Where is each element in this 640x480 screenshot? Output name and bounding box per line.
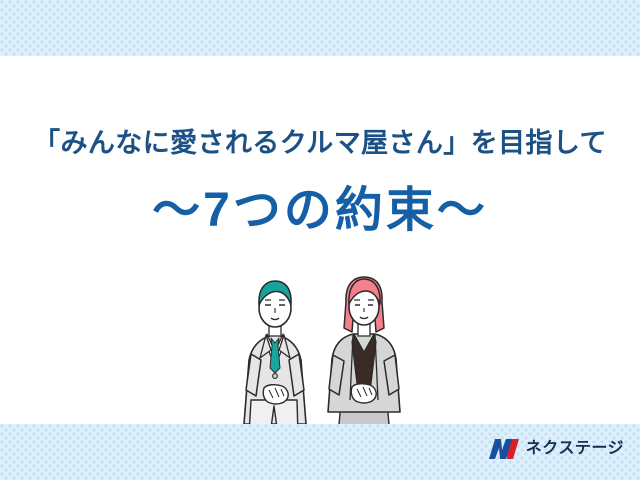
female-staff-figure	[328, 277, 400, 435]
staff-illustration	[240, 272, 410, 437]
top-dotted-band	[0, 0, 640, 56]
headline-primary: 「みんなに愛されるクルマ屋さん」を目指して	[0, 126, 640, 160]
brand-logo-text: ネクステージ	[526, 440, 624, 458]
male-clasped-hands	[263, 385, 288, 404]
slide-canvas: 「みんなに愛されるクルマ屋さん」を目指して ～7つの約束～	[0, 0, 640, 480]
male-staff-figure	[244, 281, 306, 435]
male-necktie	[270, 338, 280, 373]
female-clasped-hands	[351, 384, 376, 403]
staff-illustration-svg	[240, 272, 410, 437]
headline-secondary: ～7つの約束～	[0, 180, 640, 242]
nextage-n-logo-icon	[488, 438, 520, 460]
brand-logo: ネクステージ	[488, 438, 624, 460]
male-jacket-button	[273, 374, 278, 379]
